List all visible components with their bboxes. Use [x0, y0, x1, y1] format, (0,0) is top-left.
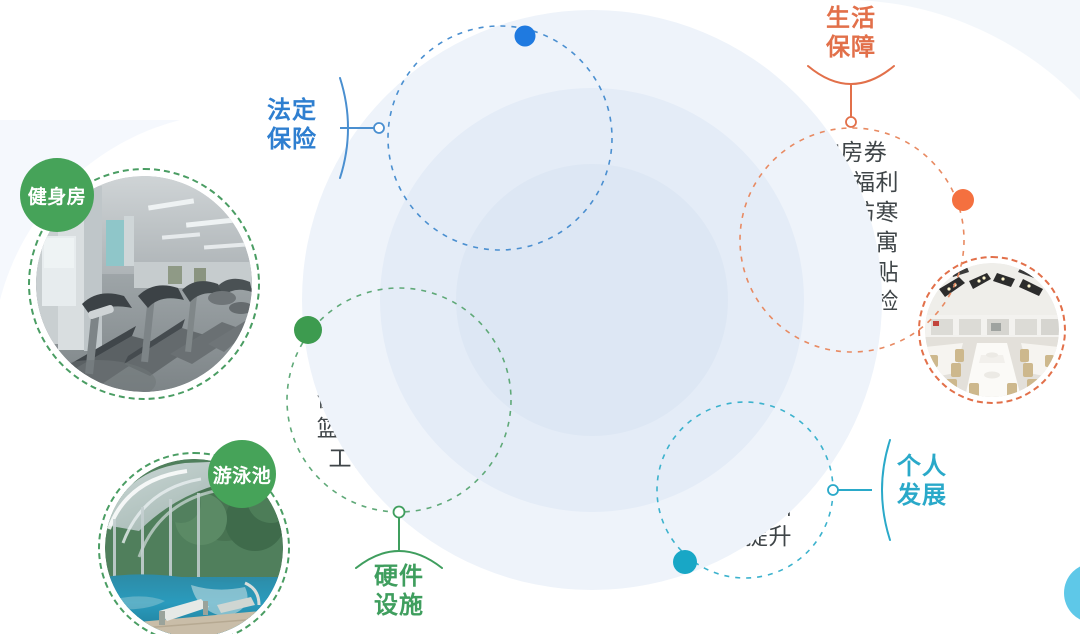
pool-badge-label: 游泳池 [213, 461, 272, 488]
background-decoration [0, 0, 1080, 634]
gym-photo-badge: 健身房 [20, 158, 94, 232]
infographic-canvas: 健身房 [0, 0, 1080, 634]
bg-blob-topright [830, 0, 1080, 100]
bg-circle-inner [456, 164, 728, 436]
pool-photo-badge: 游泳池 [208, 440, 276, 508]
gym-badge-label: 健身房 [28, 182, 87, 209]
